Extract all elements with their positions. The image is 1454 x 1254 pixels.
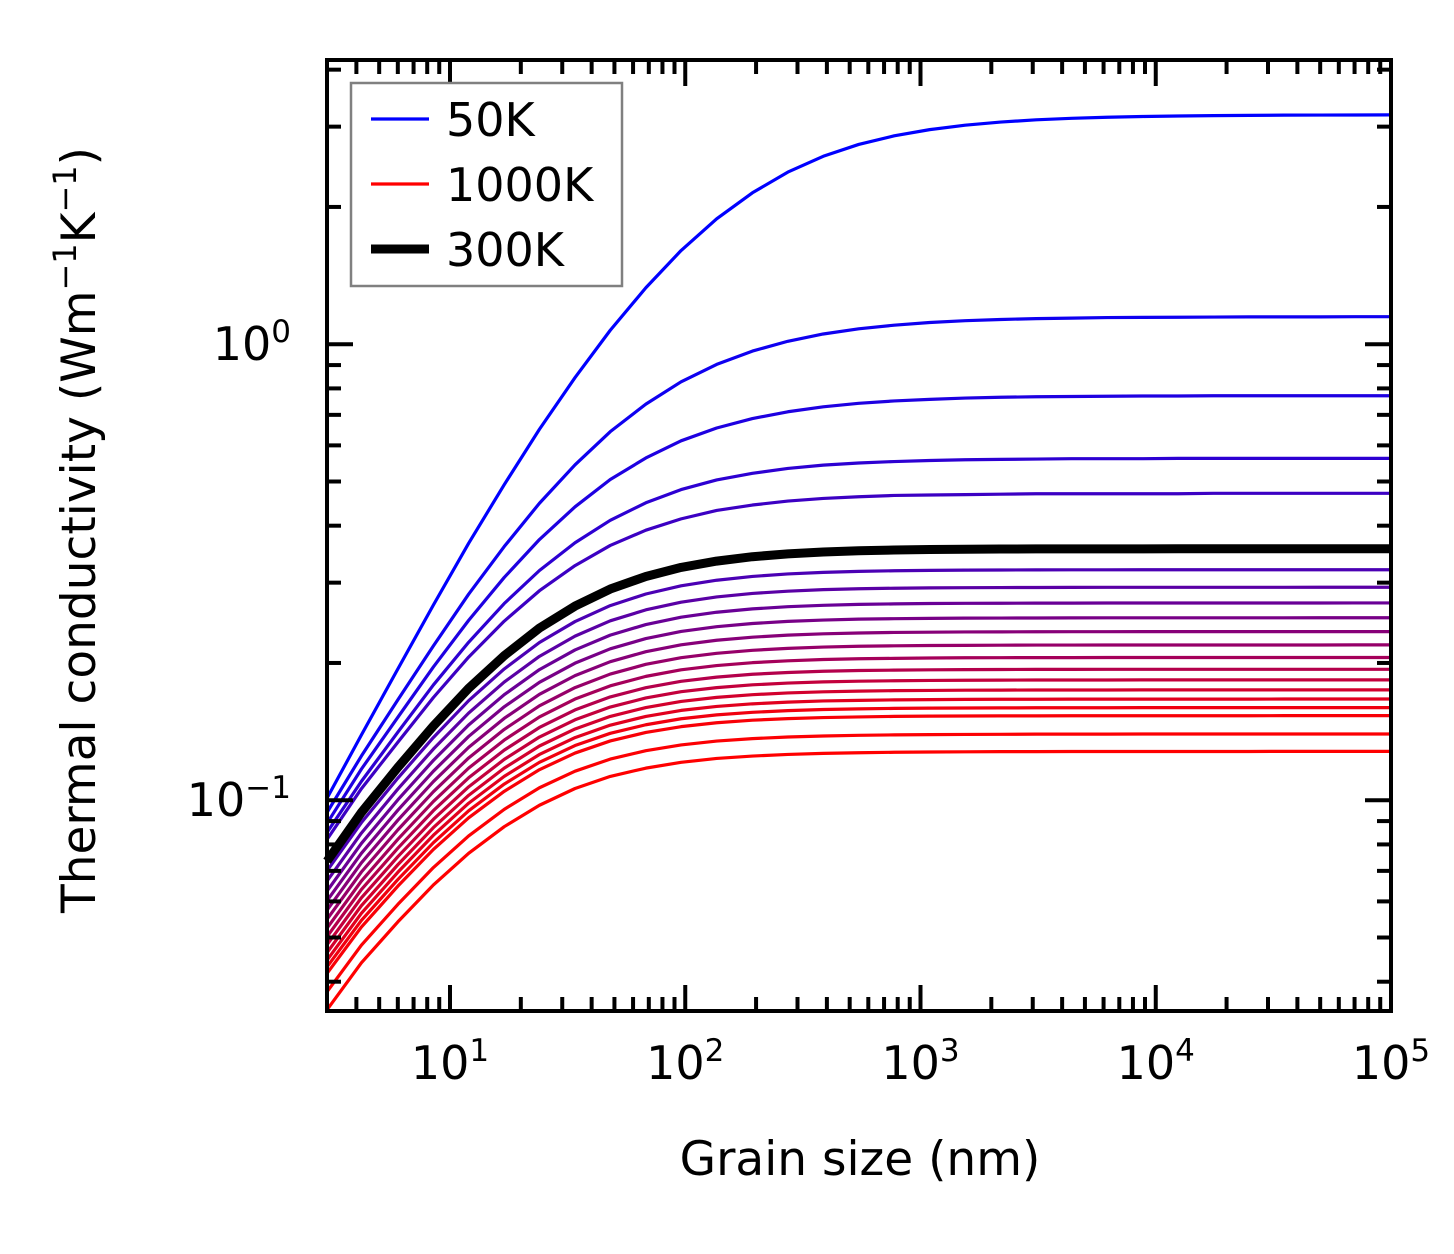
x-axis-title: Grain size (nm) [680,1132,1041,1187]
legend-label-50k[interactable]: 50K [446,93,537,147]
y-axis-title-base: Thermal conductivity (Wm [52,291,107,914]
y-axis-title-mid: K [52,211,107,243]
y-axis-title-close: ) [52,147,107,165]
figure-canvas: 10110210310410510010−1 Thermal conductiv… [0,0,1454,1254]
legend-label-300k[interactable]: 300K [446,223,566,277]
y-axis-title-sup2: −1 [46,165,84,212]
legend[interactable]: 50K1000K300K [351,83,622,286]
legend-label-1000k[interactable]: 1000K [446,158,595,212]
chart-svg: 10110210310410510010−1 Thermal conductiv… [0,0,1454,1254]
y-axis-title-sup1: −1 [46,243,84,290]
x-axis-title-text: Grain size (nm) [680,1132,1041,1187]
